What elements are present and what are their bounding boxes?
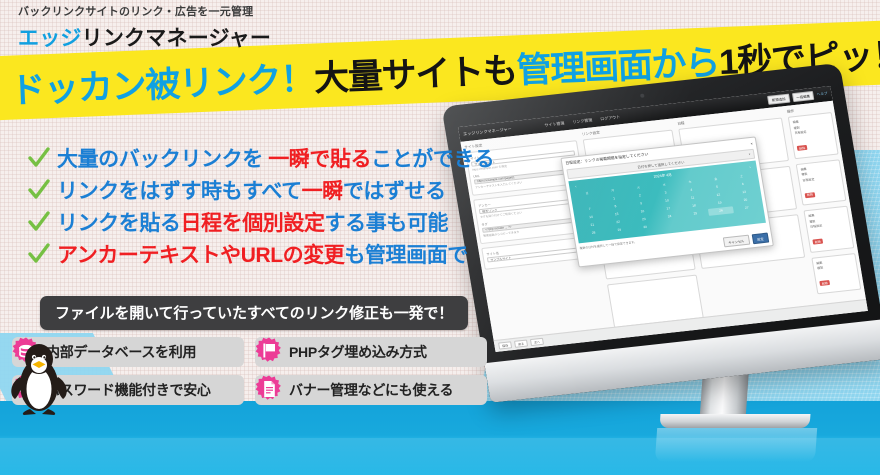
brand-title: エッジリンクマネージャー xyxy=(18,22,271,52)
cancel-button[interactable]: キャンセル xyxy=(722,235,749,248)
calendar-day xyxy=(658,220,684,230)
close-icon[interactable]: × xyxy=(750,141,753,145)
check-icon xyxy=(28,211,50,233)
list-item-label: 大量のバックリンクを 一瞬で貼ることができる xyxy=(57,143,494,173)
headline-part-1: ドッカン被リンク！ xyxy=(10,61,315,108)
bullet-hl-1: 一瞬 xyxy=(302,180,343,203)
bullet-pre-2: リンクを貼る xyxy=(57,212,180,235)
calendar-day xyxy=(735,211,761,221)
monitor-frame: エッジリンクマネージャー サイト管理 リンク管理 ログアウト 新規追加 一括編集… xyxy=(441,63,880,403)
modal-subtitle-text: 日付を押して選択してください xyxy=(637,160,685,169)
bulk-edit-button[interactable]: 一括編集 xyxy=(792,91,815,102)
calendar-month-label: 2024年 4月 xyxy=(653,173,672,180)
nav-item-links[interactable]: リンク管理 xyxy=(572,117,593,125)
check-icon xyxy=(28,243,50,265)
calendar-day xyxy=(709,214,735,224)
bullet-pre-0: 大量のバックリンクを xyxy=(57,148,268,171)
calendar-day xyxy=(684,217,710,227)
bullet-hl-0: 一瞬で貼る xyxy=(268,148,371,171)
add-new-button[interactable]: 新規追加 xyxy=(767,94,790,105)
delete-button[interactable]: 削除 xyxy=(812,239,823,245)
nav-item-logout[interactable]: ログアウト xyxy=(600,114,621,122)
chevron-down-icon[interactable]: ▾ xyxy=(748,152,750,156)
feature-label: PHPタグ埋め込み方式 xyxy=(289,342,427,362)
list-item-label: リンクを貼る日程を個別設定する事も可能 xyxy=(57,207,448,237)
action-card: 編集 複製 日程設定 削除 xyxy=(788,112,839,159)
penguin-mascot xyxy=(6,339,72,417)
action-card: 編集 複製 日程設定 削除 xyxy=(796,159,847,206)
schedule-modal: 日程設定：リンクの掲載期間を指定してください × 日付を押して選択してください … xyxy=(560,136,773,267)
delete-button[interactable]: 削除 xyxy=(797,145,808,151)
prev-month-icon[interactable]: ‹ xyxy=(575,184,577,188)
flag-icon xyxy=(253,336,285,368)
list-item-label: リンクをはずす時もすべて一瞬ではずせる xyxy=(57,175,446,205)
feature-badge-banner: バナー管理などにも使える xyxy=(255,375,487,405)
feature-badge-php-tag: PHPタグ埋め込み方式 xyxy=(255,337,487,367)
monitor-body: エッジリンクマネージャー サイト管理 リンク管理 ログアウト 新規追加 一括編集… xyxy=(441,63,880,403)
list-item: リンクをはずす時もすべて一瞬ではずせる xyxy=(28,174,494,206)
monitor-stand-foot xyxy=(660,414,811,428)
calendar-day[interactable]: 30 xyxy=(632,223,658,233)
delete-button[interactable]: 削除 xyxy=(819,280,830,286)
bullet-post-0: ことができる xyxy=(371,148,494,171)
bullet-post-3: も管理画面で xyxy=(344,244,467,267)
header: バックリンクサイトのリンク・広告を一元管理 エッジリンクマネージャー xyxy=(18,3,271,52)
check-icon xyxy=(28,147,50,169)
bullet-hl-3: アンカーテキストやURLの変更 xyxy=(57,244,344,267)
brand-accent: エッジ xyxy=(18,27,82,50)
list-item: アンカーテキストやURLの変更も管理画面で xyxy=(28,238,494,270)
bullet-post-1: ではずせる xyxy=(343,180,446,203)
action-card: 編集 複製 日程設定 削除 xyxy=(803,206,854,253)
document-icon xyxy=(253,374,285,406)
monitor-reflection xyxy=(655,428,817,462)
nav-item-sites[interactable]: サイト管理 xyxy=(544,120,565,128)
check-icon xyxy=(28,179,50,201)
back-button[interactable]: 戻る xyxy=(514,339,528,347)
banner-root: バックリンクサイトのリンク・広告を一元管理 エッジリンクマネージャー ドッカン被… xyxy=(0,0,880,475)
brand-rest: リンクマネージャー xyxy=(82,27,271,50)
feature-label: バナー管理などにも使える xyxy=(289,380,453,400)
webcam-icon xyxy=(640,94,645,98)
monitor-screen: エッジリンクマネージャー サイト管理 リンク管理 ログアウト 新規追加 一括編集… xyxy=(458,86,868,352)
save-button[interactable]: 保存 xyxy=(498,341,512,349)
help-link[interactable]: ヘルプ xyxy=(816,91,828,97)
bullet-post-2: する事も可能 xyxy=(325,212,448,235)
next-button[interactable]: 次へ xyxy=(530,338,544,346)
list-item: 大量のバックリンクを 一瞬で貼ることができる xyxy=(28,142,494,174)
next-month-icon[interactable]: › xyxy=(749,165,751,169)
feature-badge-grid: 内部データベースを利用 PHPタグ埋め込み方式 xyxy=(12,337,487,405)
benefit-list: 大量のバックリンクを 一瞬で貼ることができる リンクをはずす時もすべて一瞬ではず… xyxy=(28,142,494,270)
ribbon-callout: ファイルを開いて行っていたすべてのリンク修正も一発で！ xyxy=(40,296,468,330)
calendar-day[interactable]: 29 xyxy=(607,226,633,236)
list-item-label: アンカーテキストやURLの変更も管理画面で xyxy=(57,239,468,269)
product-screenshot-monitor: エッジリンクマネージャー サイト管理 リンク管理 ログアウト 新規追加 一括編集… xyxy=(470,78,880,475)
list-item: リンクを貼る日程を個別設定する事も可能 xyxy=(28,206,494,238)
bullet-pre-1: リンクをはずす時もすべて xyxy=(57,180,302,203)
app-brand-label: エッジリンクマネージャー xyxy=(463,126,512,137)
delete-button[interactable]: 削除 xyxy=(805,192,816,198)
calendar-day[interactable]: 28 xyxy=(581,228,607,238)
confirm-button[interactable]: 設定 xyxy=(751,233,769,245)
bullet-hl-2: 日程を個別設定 xyxy=(180,212,324,235)
action-card: 編集 複製 削除 xyxy=(811,253,861,294)
header-kicker: バックリンクサイトのリンク・広告を一元管理 xyxy=(18,3,271,19)
